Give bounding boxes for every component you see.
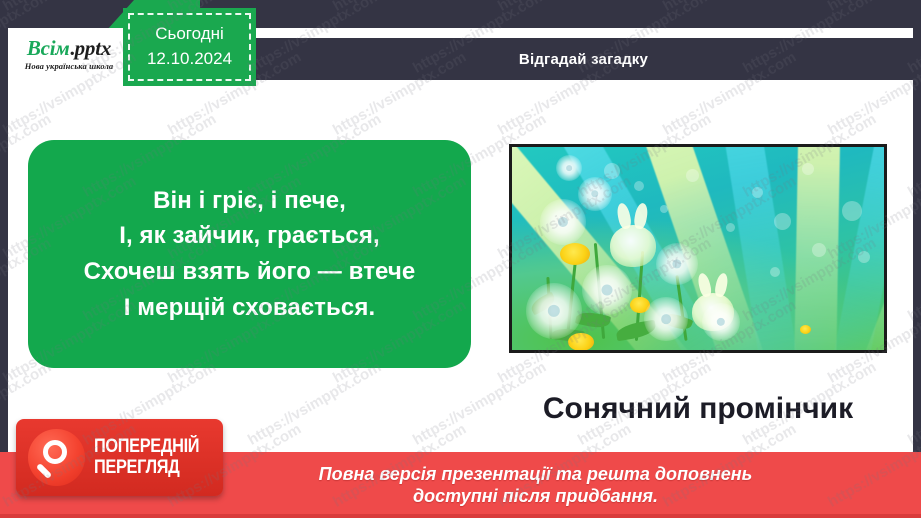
purchase-banner-text: Повна версія презентації та решта доповн… <box>169 463 753 508</box>
dandelion-flower <box>800 325 811 334</box>
illustration-image <box>509 144 887 353</box>
magnifier-icon <box>28 429 85 486</box>
watermark-text: https://vsimpptx.com <box>330 0 469 15</box>
dandelion-flower <box>560 243 590 265</box>
magnifier-ring <box>43 440 67 464</box>
brand-logo-ext: pptx <box>75 36 112 60</box>
brand-logo-title: Всім.pptx <box>27 38 111 59</box>
slide-header-bar: Відгадай загадку <box>254 38 913 80</box>
brand-logo-main: Всім <box>27 36 70 60</box>
magnifier-handle <box>36 463 52 479</box>
watermark-text: https://vsimpptx.com <box>0 0 139 15</box>
dandelion-flower <box>568 333 594 351</box>
bokeh-dot <box>802 163 814 175</box>
bokeh-dot <box>858 251 870 263</box>
slide-title: Відгадай загадку <box>519 51 648 68</box>
bokeh-dot <box>660 205 668 213</box>
bokeh-dot <box>604 163 620 179</box>
bokeh-dot <box>770 267 780 277</box>
dandelion-puff <box>578 177 612 211</box>
watermark-text: https://vsimpptx.com <box>660 0 799 15</box>
riddle-text: Він і гріє, і пече, І, як зайчик, граєть… <box>84 183 416 325</box>
dandelion-puff <box>656 243 698 285</box>
watermark-text: https://vsimpptx.com <box>825 0 921 15</box>
preview-badge-line2: ПЕРЕГЛЯД <box>94 458 199 478</box>
dandelion-puff <box>702 303 740 341</box>
preview-badge-labels: ПОПЕРЕДНІЙ ПЕРЕГЛЯД <box>94 437 216 477</box>
brand-logo-tagline: Нова українська школа <box>25 61 114 71</box>
dandelion-puff <box>556 155 582 181</box>
dandelion-puff <box>644 297 688 341</box>
bunny-shape <box>610 225 656 267</box>
bokeh-dot <box>812 243 826 257</box>
date-badge: Сьогодні 12.10.2024 <box>123 8 256 86</box>
bokeh-dot <box>634 181 644 191</box>
dandelion-puff <box>582 265 632 315</box>
dandelion-puff <box>540 199 586 245</box>
dandelion-puff <box>526 283 582 339</box>
date-badge-label: Сьогодні <box>155 22 224 47</box>
bokeh-dot <box>842 201 862 221</box>
date-badge-value: 12.10.2024 <box>147 47 232 72</box>
bokeh-dot <box>774 213 791 230</box>
bokeh-dot <box>752 187 763 198</box>
bokeh-dot <box>726 223 735 232</box>
watermark-text: https://vsimpptx.com <box>495 0 634 15</box>
bokeh-dot <box>686 169 699 182</box>
slide-frame: Всім.pptx Нова українська школа Сьогодні… <box>0 0 921 518</box>
preview-badge-line1: ПОПЕРЕДНІЙ <box>94 437 199 457</box>
riddle-card: Він і гріє, і пече, І, як зайчик, граєть… <box>28 140 471 368</box>
preview-badge[interactable]: ПОПЕРЕДНІЙ ПЕРЕГЛЯД <box>16 419 223 496</box>
riddle-answer: Сонячний промінчик <box>498 388 898 430</box>
brand-logo[interactable]: Всім.pptx Нова українська школа <box>8 28 130 80</box>
